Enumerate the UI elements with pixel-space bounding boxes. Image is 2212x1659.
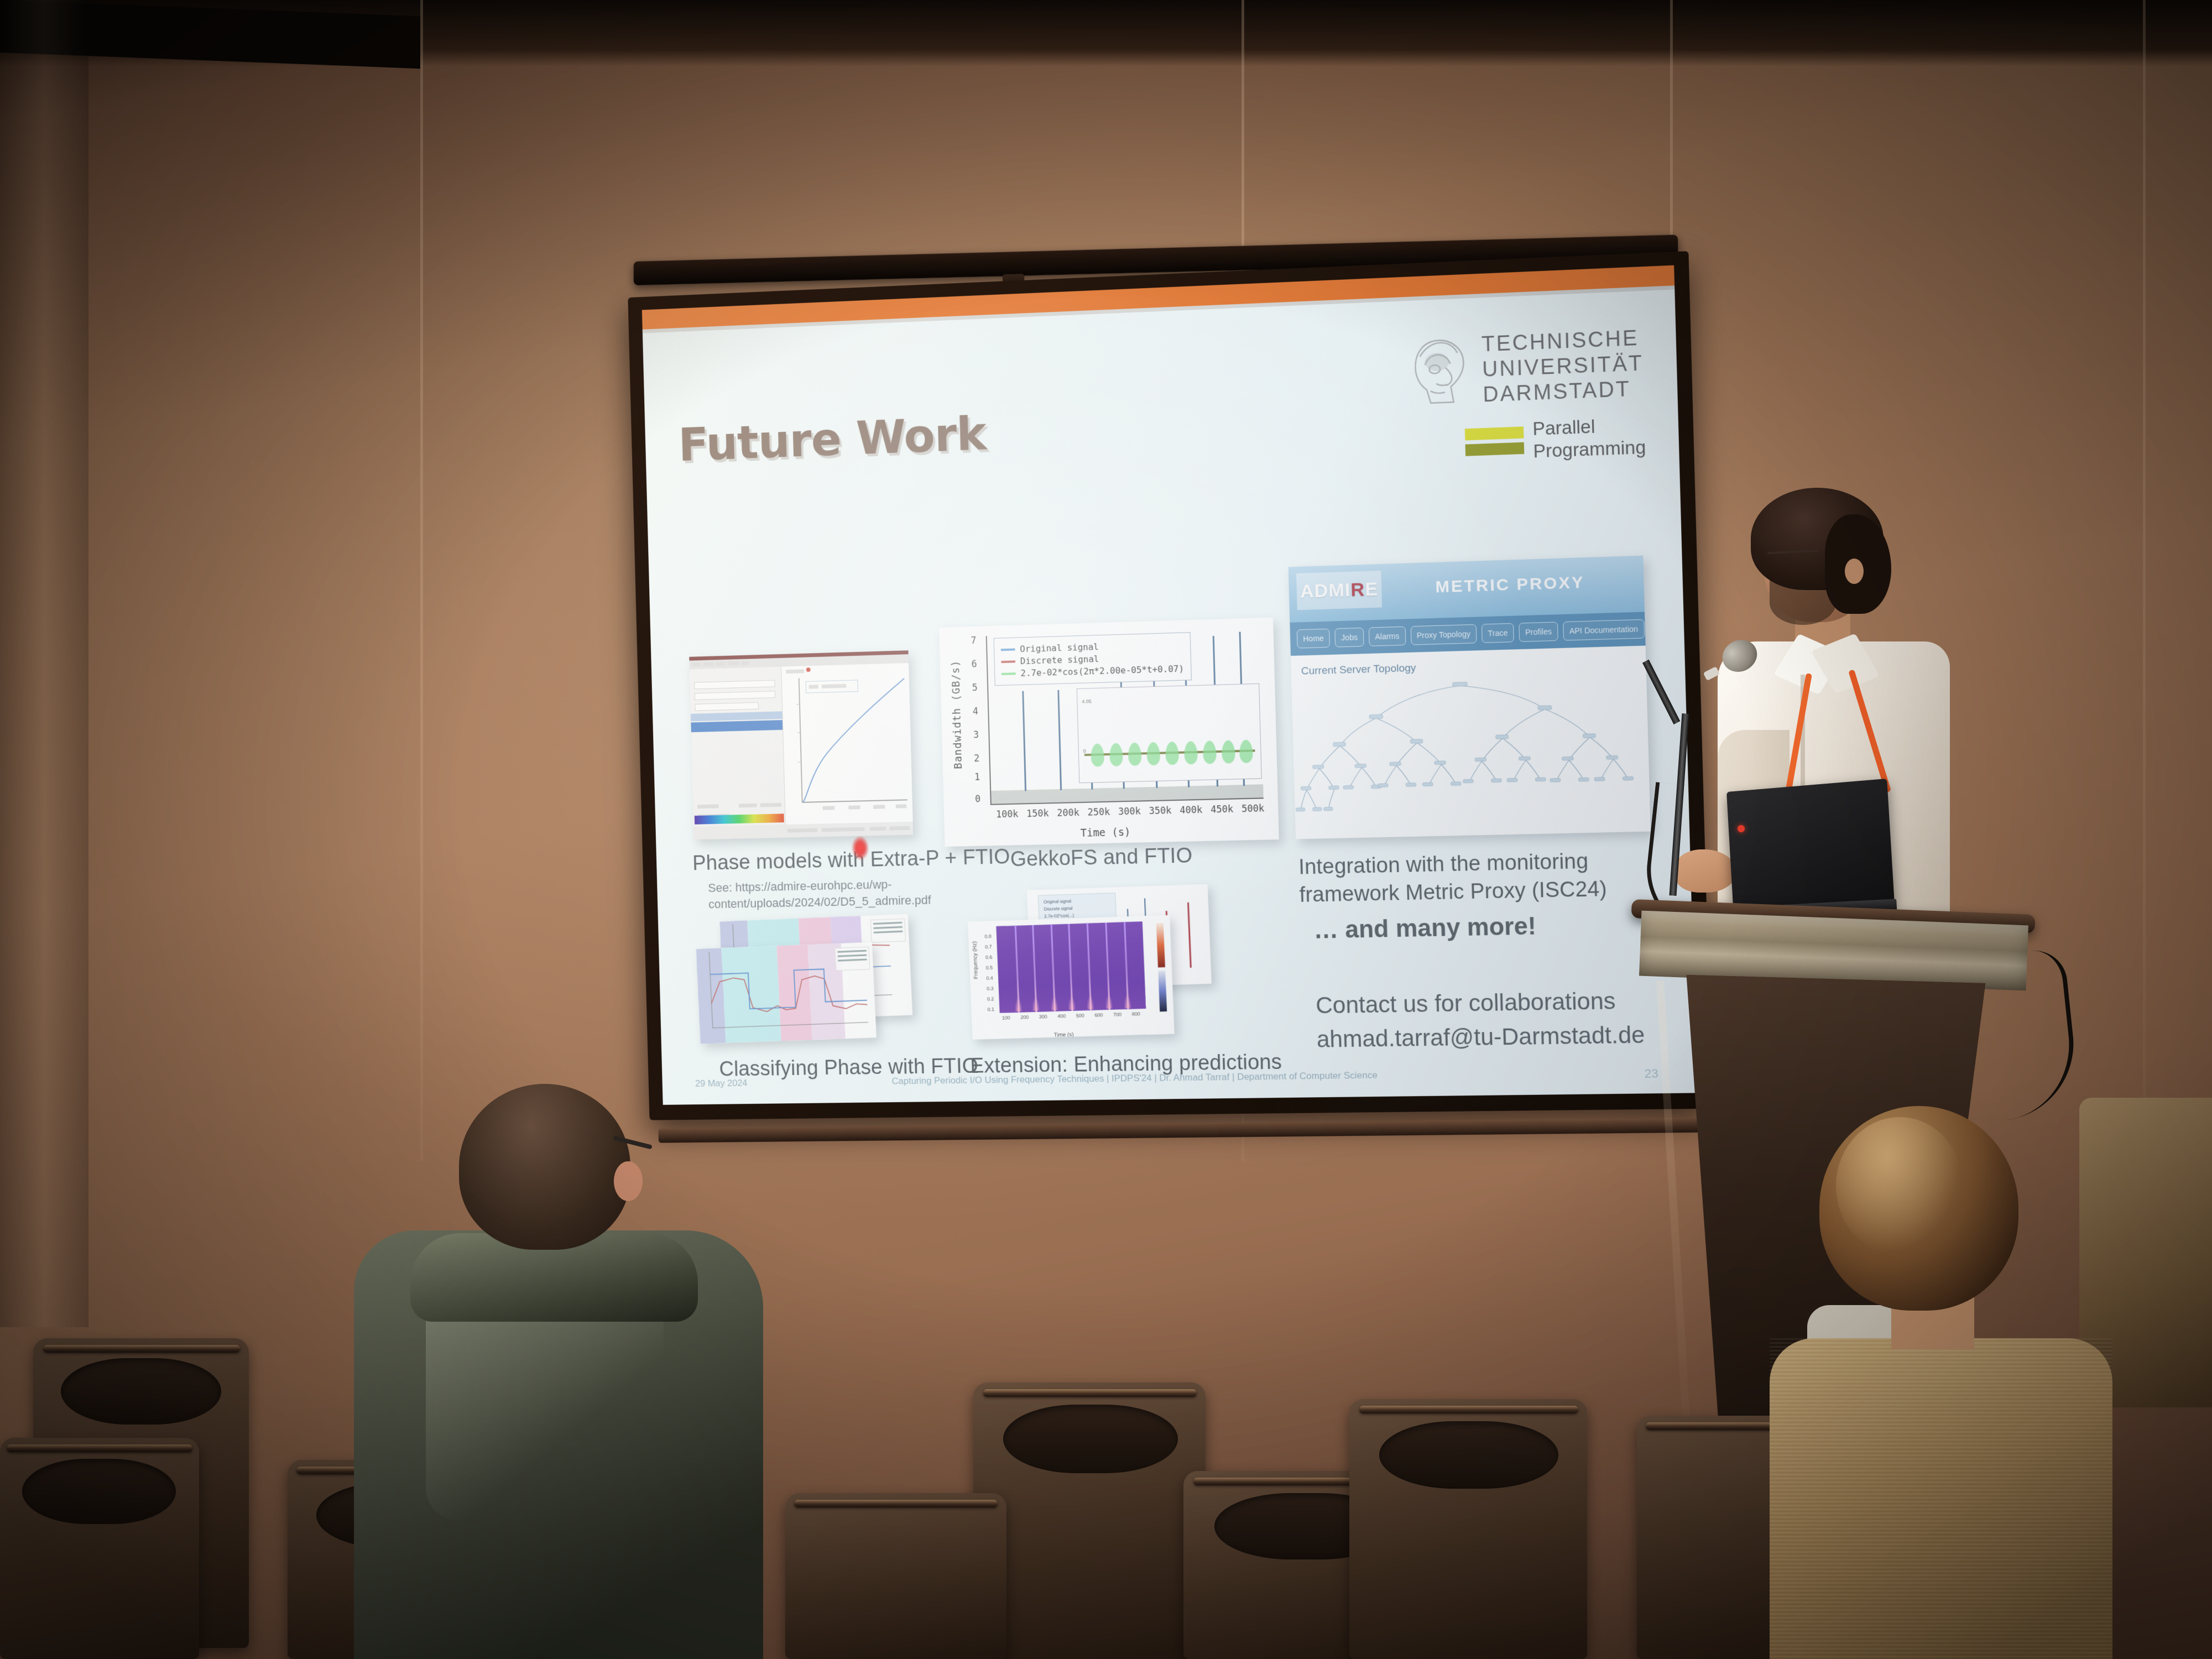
chair-backrest-cutout	[1003, 1405, 1178, 1473]
admire-logo-text: ADMIRE	[1300, 578, 1378, 603]
gekkofs-ytick: 6	[971, 659, 977, 670]
gekkofs-y-axis	[986, 636, 992, 804]
gekkofs-xtick: 100k	[996, 809, 1019, 821]
admire-logo: ADMIRE	[1296, 571, 1382, 610]
gekkofs-chart-panel: Bandwidth (GB/s) Time (s) 7 6 5 4 3 2 1 …	[939, 618, 1279, 847]
tu-darmstadt-wordmark: TECHNISCHE UNIVERSITÄT DARMSTADT	[1481, 326, 1645, 408]
spectrogram-xtick: 100	[1002, 1015, 1010, 1020]
footer-date: 29 May 2024	[695, 1078, 748, 1089]
extra-p-sidebar	[690, 667, 786, 827]
spectrogram-ytick: 0.2	[987, 996, 994, 1001]
gekkofs-ytick: 3	[973, 729, 979, 740]
extra-p-model-curve	[781, 663, 913, 825]
extension-spectrogram-panel: Frequency (Hz) Time (s) 0.1 0.2 0.3 0.4 …	[968, 915, 1175, 1040]
spectrogram-xtick: 700	[1113, 1011, 1121, 1017]
chair	[785, 1493, 1006, 1659]
gekkofs-xtick: 500k	[1241, 803, 1265, 815]
metric-proxy-header: ADMIRE METRIC PROXY	[1288, 556, 1645, 623]
chair-backrest-cutout	[22, 1459, 176, 1524]
server-topology-tree	[1291, 668, 1650, 833]
chair-rail	[983, 1389, 1197, 1397]
pp-bars-icon	[1465, 426, 1524, 456]
spectrogram-ytick: 0.5	[986, 965, 993, 971]
screen-bottom-rail	[658, 1118, 1710, 1143]
gekkofs-y-axis-label: Bandwidth (GB/s)	[950, 660, 969, 769]
pp-wordmark: Parallel Programming	[1532, 414, 1646, 462]
extra-p-colormap-bar	[695, 813, 784, 824]
spectrogram-ytick: 0.1	[988, 1006, 995, 1012]
metric-proxy-caption-line1: Integration with the monitoring	[1298, 849, 1589, 879]
gekkofs-xtick: 400k	[1180, 805, 1202, 816]
laptop-power-led	[1738, 825, 1745, 832]
presentation-slide: TECHNISCHE UNIVERSITÄT DARMSTADT	[642, 265, 1697, 1105]
contact-line-1: Contact us for collaborations	[1316, 984, 1645, 1023]
wall-panel	[0, 0, 88, 1327]
gekkofs-ytick: 0	[975, 794, 981, 805]
nav-jobs[interactable]: Jobs	[1335, 628, 1364, 648]
gekkofs-xtick: 300k	[1118, 806, 1141, 818]
chair-backrest-cutout	[1379, 1421, 1558, 1489]
gekkofs-xtick: 250k	[1087, 807, 1110, 818]
nav-home[interactable]: Home	[1297, 629, 1331, 649]
gekkofs-spike	[1057, 690, 1062, 790]
athena-head-icon	[1408, 337, 1471, 406]
chair-rail	[794, 1500, 998, 1507]
nav-proxy-topology[interactable]: Proxy Topology	[1410, 624, 1477, 645]
spectrogram-colorbar-cool	[1158, 971, 1167, 1011]
gekkofs-xtick: 450k	[1211, 804, 1233, 816]
wall-seam	[2143, 0, 2146, 1134]
presenter-ear	[1845, 559, 1864, 584]
audience-member-right-sweater	[1770, 1338, 2112, 1659]
metric-proxy-content: Current Server Topology	[1291, 646, 1651, 839]
audience-member-right-hair-highlight	[1836, 1117, 1963, 1255]
pp-line-2: Programming	[1533, 436, 1646, 462]
nav-api-documentation[interactable]: API Documentation	[1563, 619, 1645, 641]
spectrogram-ytick: 0.7	[985, 944, 992, 950]
audience-member-left-jacket-highlight	[426, 1288, 664, 1521]
gekkofs-xtick: 350k	[1149, 805, 1171, 817]
spectrogram-y-axis-label: Frequency (Hz)	[972, 941, 979, 979]
parallel-programming-logo: Parallel Programming	[1464, 414, 1646, 465]
metric-proxy-screenshot-panel: ADMIRE METRIC PROXY Home Jobs Alarms Pro…	[1288, 556, 1651, 839]
screen-surface: TECHNISCHE UNIVERSITÄT DARMSTADT	[642, 265, 1697, 1105]
metric-proxy-caption-line2: framework Metric Proxy (ISC24)	[1299, 878, 1607, 907]
audience-member-left-head	[459, 1084, 630, 1250]
gekkofs-ytick: 4	[973, 706, 979, 717]
extra-p-plot	[781, 663, 913, 825]
wall-seam	[420, 0, 423, 1161]
chair-rail	[43, 1345, 240, 1353]
slide-body: TECHNISCHE UNIVERSITÄT DARMSTADT	[643, 289, 1697, 1105]
chair-rail	[7, 1444, 192, 1452]
spectrogram-xtick: 400	[1057, 1013, 1066, 1019]
spectrogram-xtick: 500	[1076, 1013, 1084, 1018]
conference-room-scene: TECHNISCHE UNIVERSITÄT DARMSTADT	[0, 0, 2212, 1659]
spectrogram-xtick: 600	[1094, 1012, 1103, 1018]
legend-swatch-original	[1001, 648, 1015, 651]
spectrogram-ytick: 0.6	[985, 954, 993, 960]
audience-member-left-ear	[614, 1161, 643, 1201]
classifying-phase-panel-front	[696, 942, 877, 1044]
slide-title: Future Work	[677, 406, 987, 472]
legend-swatch-cosine	[1001, 672, 1016, 675]
gekkofs-x-axis-label: Time (s)	[1081, 826, 1131, 839]
spectrogram-xtick: 800	[1132, 1011, 1140, 1016]
gekkofs-ytick: 2	[974, 753, 980, 764]
nav-alarms[interactable]: Alarms	[1369, 627, 1406, 646]
and-many-more-text: … and many more!	[1313, 912, 1536, 945]
spectrogram-ytick: 0.8	[984, 933, 992, 939]
extra-p-caption: Phase models with Extra-P + FTIO	[692, 846, 1010, 876]
nav-profiles[interactable]: Profiles	[1519, 622, 1558, 642]
spectrogram-xtick: 300	[1039, 1014, 1047, 1019]
gekkofs-ytick: 1	[974, 772, 980, 783]
footer-page-number: 23	[1644, 1066, 1658, 1081]
spectrogram-xtick: 200	[1020, 1014, 1029, 1020]
extra-p-screenshot-panel	[689, 650, 913, 839]
gekkofs-legend: Original signal Discrete signal 2.7e-02*…	[994, 632, 1192, 686]
spectrogram-ytick: 0.4	[986, 975, 993, 981]
presenter-laptop[interactable]	[1726, 779, 1895, 913]
spectrogram-x-axis-label: Time (s)	[1054, 1032, 1074, 1039]
chair-backrest-cutout	[61, 1358, 221, 1425]
legend-label-original: Original signal	[1020, 641, 1099, 654]
gekkofs-ytick: 5	[972, 682, 978, 693]
gekkofs-xtick: 200k	[1057, 807, 1079, 819]
gekkofs-spike	[1022, 691, 1026, 791]
spectrogram-ytick: 0.3	[987, 985, 994, 991]
chair-rail	[1359, 1406, 1578, 1413]
tu-darmstadt-logo: TECHNISCHE UNIVERSITÄT DARMSTADT	[1408, 326, 1645, 410]
metric-proxy-title: METRIC PROXY	[1435, 573, 1585, 597]
legend-swatch-discrete	[1001, 660, 1015, 663]
gekkofs-ytick: 7	[971, 635, 977, 646]
gekkofs-xtick: 150k	[1026, 808, 1049, 820]
gekkofs-inset-plot: 4.05 0	[1077, 684, 1262, 783]
extra-p-subcaption: See: https://admire-eurohpc.eu/wp-conten…	[708, 875, 923, 912]
contact-email: ahmad.tarraf@tu-Darmstadt.de	[1316, 1018, 1645, 1057]
gekkofs-caption: GekkoFS and FTIO	[1010, 844, 1192, 872]
projection-screen: TECHNISCHE UNIVERSITÄT DARMSTADT	[625, 252, 1725, 1147]
contact-block: Contact us for collaborations ahmad.tarr…	[1316, 984, 1646, 1057]
spectrogram-heatmap	[996, 921, 1146, 1013]
legend-label-discrete: Discrete signal	[1020, 654, 1099, 666]
nav-trace[interactable]: Trace	[1481, 623, 1514, 643]
spectrogram-colorbar-warm	[1156, 923, 1165, 967]
